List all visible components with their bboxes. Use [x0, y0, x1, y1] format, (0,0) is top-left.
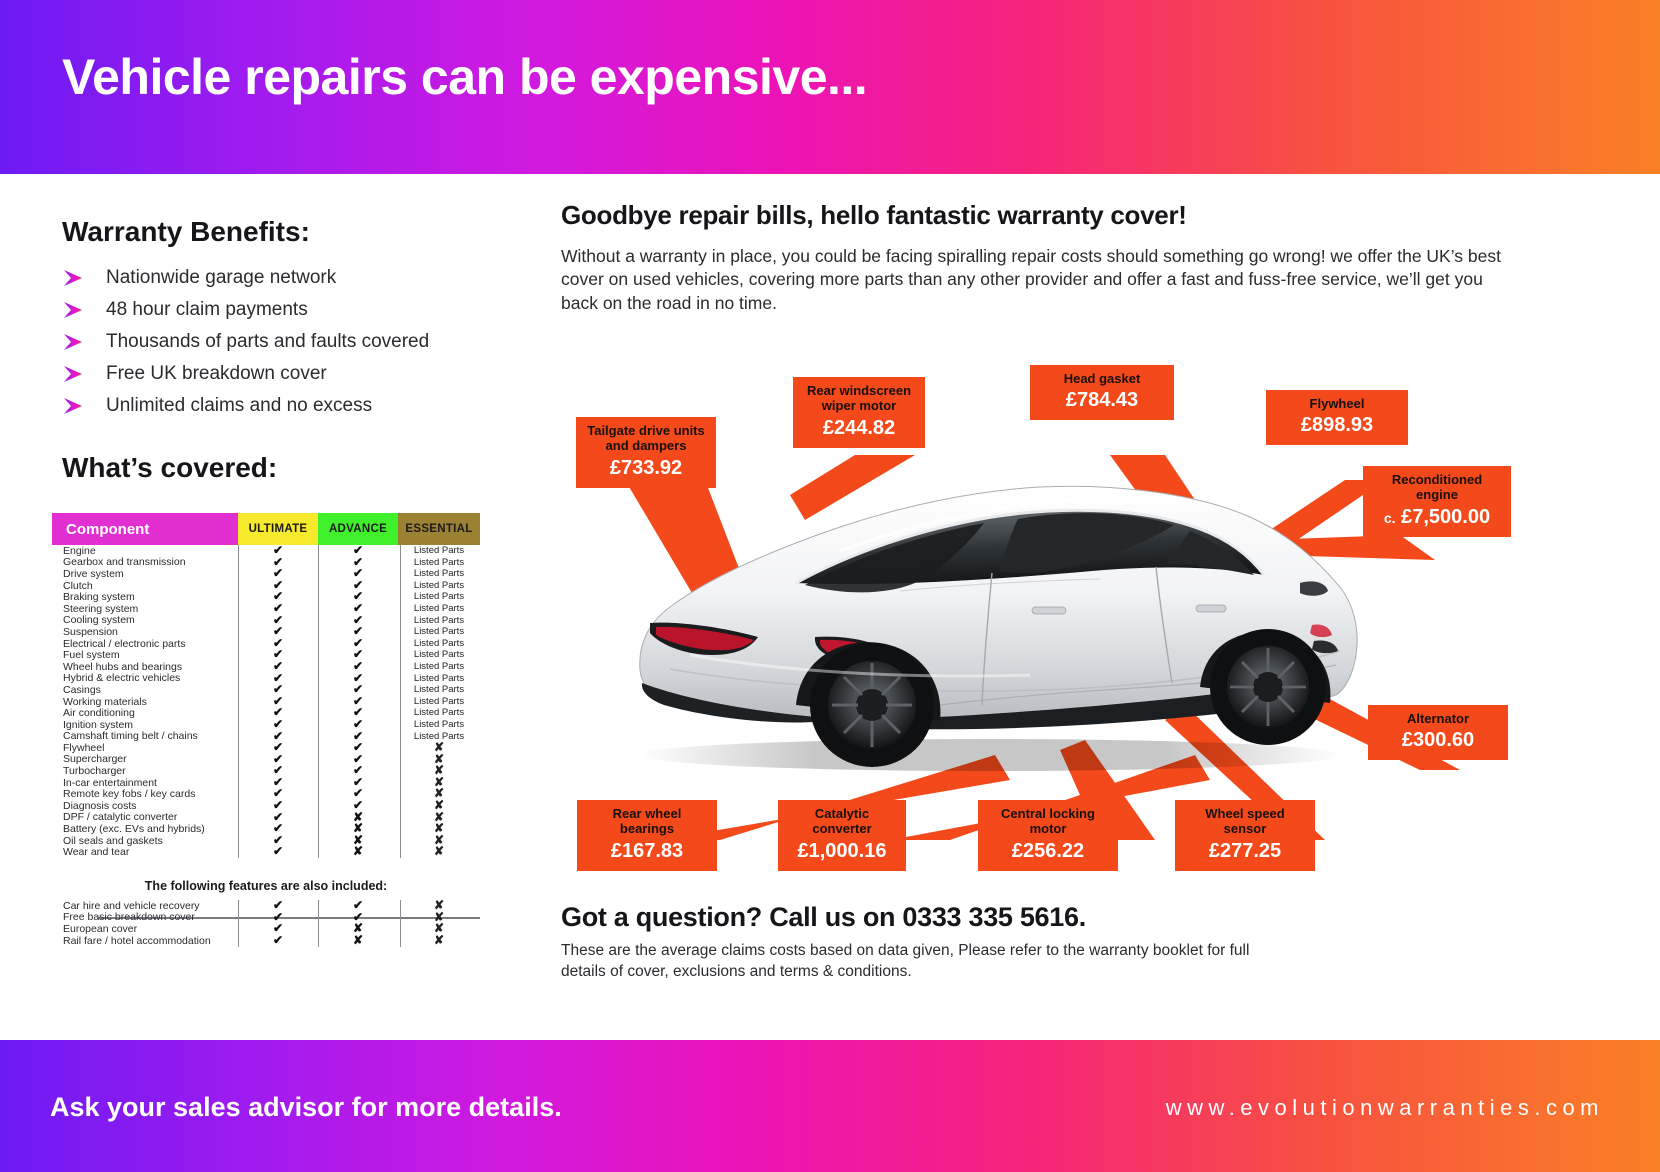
row-component-name: Wear and tear — [52, 846, 238, 858]
benefit-item: Thousands of parts and faults covered — [62, 326, 502, 358]
table-row: Drive system✔✔Listed Parts — [52, 568, 480, 580]
page-footer: Ask your sales advisor for more details.… — [0, 1040, 1660, 1172]
page-header: Vehicle repairs can be expensive... — [0, 0, 1660, 174]
callout-price: £277.25 — [1185, 840, 1305, 863]
benefit-label: Unlimited claims and no excess — [106, 395, 372, 417]
callout-central-locking-motor: Central locking motor £256.22 — [978, 800, 1118, 871]
cell-essential: ✘ — [398, 846, 480, 858]
callout-alternator: Alternator £300.60 — [1368, 705, 1508, 760]
table-row: Engine✔✔Listed Parts — [52, 545, 480, 557]
row-component-name: Clutch — [52, 580, 238, 592]
table-row: Suspension✔✔Listed Parts — [52, 626, 480, 638]
cell-advance: ✘ — [318, 846, 398, 858]
cell-advance: ✘ — [318, 935, 398, 947]
callout-rear-wheel-bearings: Rear wheel bearings £167.83 — [577, 800, 717, 871]
benefit-label: Thousands of parts and faults covered — [106, 331, 429, 353]
table-row: Air conditioning✔✔Listed Parts — [52, 707, 480, 719]
right-heading: Goodbye repair bills, hello fantastic wa… — [561, 200, 1187, 231]
car-illustration — [600, 455, 1380, 800]
callout-label: Flywheel — [1276, 396, 1398, 411]
table-row: Steering system✔✔Listed Parts — [52, 603, 480, 615]
table-row: DPF / catalytic converter✔✘✘ — [52, 812, 480, 824]
cell-ultimate: ✔ — [238, 846, 318, 858]
coverage-table-body: Engine✔✔Listed PartsGearbox and transmis… — [52, 545, 480, 858]
callout-price: £300.60 — [1378, 729, 1498, 752]
table-column-divider — [238, 545, 239, 858]
table-row: In-car entertainment✔✔✘ — [52, 777, 480, 789]
row-component-name: Cooling system — [52, 614, 238, 626]
table-row: Clutch✔✔Listed Parts — [52, 580, 480, 592]
row-component-name: Remote key fobs / key cards — [52, 788, 238, 800]
table-column-divider — [400, 900, 401, 947]
covered-heading: What’s covered: — [62, 452, 277, 484]
row-component-name: Steering system — [52, 603, 238, 615]
arrow-right-icon — [62, 365, 92, 383]
arrow-right-icon — [62, 397, 92, 415]
benefit-item: 48 hour claim payments — [62, 294, 502, 326]
table-row: Car hire and vehicle recovery✔✔✘ — [52, 900, 480, 912]
table-row: Flywheel✔✔✘ — [52, 742, 480, 754]
row-component-name: Oil seals and gaskets — [52, 835, 238, 847]
callout-label: Central locking motor — [988, 806, 1108, 837]
benefit-label: 48 hour claim payments — [106, 299, 308, 321]
table-row: Battery (exc. EVs and hybrids)✔✘✘ — [52, 823, 480, 835]
row-component-name: Supercharger — [52, 753, 238, 765]
callout-label: Wheel speed sensor — [1185, 806, 1305, 837]
row-component-name: Car hire and vehicle recovery — [52, 900, 238, 912]
right-paragraph: Without a warranty in place, you could b… — [561, 245, 1521, 315]
row-component-name: Suspension — [52, 626, 238, 638]
row-component-name: Fuel system — [52, 649, 238, 661]
callout-label: Head gasket — [1040, 371, 1164, 386]
cell-essential: Listed Parts — [398, 557, 480, 569]
row-component-name: Diagnosis costs — [52, 800, 238, 812]
row-component-name: Drive system — [52, 568, 238, 580]
table-row: European cover✔✘✘ — [52, 923, 480, 935]
extras-title: The following features are also included… — [52, 879, 480, 893]
row-component-name: Rail fare / hotel accommodation — [52, 935, 238, 947]
footer-website-url[interactable]: www.evolutionwarranties.com — [1166, 1095, 1604, 1121]
row-component-name: DPF / catalytic converter — [52, 811, 238, 823]
cell-essential: Listed Parts — [398, 696, 480, 708]
coverage-table: Component ULTIMATE ADVANCE ESSENTIAL Eng… — [52, 513, 480, 858]
column-header-ultimate: ULTIMATE — [238, 513, 318, 545]
arrow-right-icon — [62, 269, 92, 287]
benefit-label: Free UK breakdown cover — [106, 363, 327, 385]
row-component-name: In-car entertainment — [52, 777, 238, 789]
table-row: Oil seals and gaskets✔✘✘ — [52, 835, 480, 847]
table-row: Casings✔✔Listed Parts — [52, 684, 480, 696]
row-component-name: Ignition system — [52, 719, 238, 731]
row-component-name: Braking system — [52, 591, 238, 603]
row-component-name: Gearbox and transmission — [52, 556, 238, 568]
row-component-name: Air conditioning — [52, 707, 238, 719]
callout-label: Catalytic converter — [788, 806, 896, 837]
cell-essential: Listed Parts — [398, 638, 480, 650]
table-row: Fuel system✔✔Listed Parts — [52, 649, 480, 661]
infographic-page: Vehicle repairs can be expensive... Warr… — [0, 0, 1660, 1172]
callout-price: £244.82 — [803, 417, 915, 440]
table-column-divider — [400, 545, 401, 858]
callout-wheel-speed-sensor: Wheel speed sensor £277.25 — [1175, 800, 1315, 871]
table-row: Wear and tear✔✘✘ — [52, 846, 480, 858]
cell-ultimate: ✔ — [238, 935, 318, 947]
arrow-right-icon — [62, 301, 92, 319]
cell-essential: Listed Parts — [398, 603, 480, 615]
table-row: Rail fare / hotel accommodation✔✘✘ — [52, 935, 480, 947]
table-row: Diagnosis costs✔✔✘ — [52, 800, 480, 812]
cell-essential: Listed Parts — [398, 684, 480, 696]
column-header-essential: ESSENTIAL — [398, 513, 480, 545]
table-column-divider — [318, 545, 319, 858]
cell-essential: ✘ — [398, 935, 480, 947]
callout-price: £733.92 — [586, 457, 706, 480]
table-row: Braking system✔✔Listed Parts — [52, 591, 480, 603]
table-row: Hybrid & electric vehicles✔✔Listed Parts — [52, 673, 480, 685]
row-component-name: Electrical / electronic parts — [52, 638, 238, 650]
cell-essential: Listed Parts — [398, 673, 480, 685]
callout-head-gasket: Head gasket £784.43 — [1030, 365, 1174, 420]
cell-essential: Listed Parts — [398, 626, 480, 638]
cell-essential: Listed Parts — [398, 707, 480, 719]
row-component-name: Turbocharger — [52, 765, 238, 777]
callout-tailgate-drive-units: Tailgate drive units and dampers £733.92 — [576, 417, 716, 488]
callout-label: Alternator — [1378, 711, 1498, 726]
benefit-item: Unlimited claims and no excess — [62, 390, 502, 422]
page-title: Vehicle repairs can be expensive... — [62, 48, 867, 106]
arrow-right-icon — [62, 333, 92, 351]
call-to-action: Got a question? Call us on 0333 335 5616… — [561, 902, 1086, 933]
table-column-divider — [318, 900, 319, 947]
column-header-advance: ADVANCE — [318, 513, 398, 545]
row-component-name: Battery (exc. EVs and hybrids) — [52, 823, 238, 835]
callout-price: £167.83 — [587, 840, 707, 863]
row-component-name: Flywheel — [52, 742, 238, 754]
extras-table-body: Car hire and vehicle recovery✔✔✘Free bas… — [52, 900, 480, 946]
disclaimer-text: These are the average claims costs based… — [561, 941, 1261, 983]
benefit-label: Nationwide garage network — [106, 267, 336, 289]
cell-essential: Listed Parts — [398, 580, 480, 592]
row-component-name: European cover — [52, 923, 238, 935]
cell-essential: Listed Parts — [398, 545, 480, 557]
benefit-item: Free UK breakdown cover — [62, 358, 502, 390]
callout-label: Tailgate drive units and dampers — [586, 423, 706, 454]
footer-message: Ask your sales advisor for more details. — [50, 1092, 562, 1123]
row-component-name: Free basic breakdown cover — [52, 911, 238, 923]
table-row: Remote key fobs / key cards✔✔✘ — [52, 788, 480, 800]
extras-table: Car hire and vehicle recovery✔✔✘Free bas… — [52, 900, 480, 946]
cell-essential: Listed Parts — [398, 719, 480, 731]
callout-label: Rear wheel bearings — [587, 806, 707, 837]
cell-essential: Listed Parts — [398, 591, 480, 603]
callout-label: Reconditioned engine — [1373, 472, 1501, 503]
cell-essential: Listed Parts — [398, 568, 480, 580]
callout-reconditioned-engine: Reconditioned engine c. £7,500.00 — [1363, 466, 1511, 537]
table-row: Cooling system✔✔Listed Parts — [52, 615, 480, 627]
table-row: Wheel hubs and bearings✔✔Listed Parts — [52, 661, 480, 673]
table-row: Ignition system✔✔Listed Parts — [52, 719, 480, 731]
cell-essential: Listed Parts — [398, 615, 480, 627]
callout-price: c. £7,500.00 — [1373, 506, 1501, 529]
benefit-item: Nationwide garage network — [62, 262, 502, 294]
callout-flywheel: Flywheel £898.93 — [1266, 390, 1408, 445]
callout-label: Rear windscreen wiper motor — [803, 383, 915, 414]
benefits-heading: Warranty Benefits: — [62, 216, 310, 248]
table-row: Camshaft timing belt / chains✔✔Listed Pa… — [52, 731, 480, 743]
table-row: Turbocharger✔✔✘ — [52, 765, 480, 777]
callout-price: £256.22 — [988, 840, 1108, 863]
row-component-name: Casings — [52, 684, 238, 696]
row-component-name: Wheel hubs and bearings — [52, 661, 238, 673]
callout-price: £1,000.16 — [788, 840, 896, 863]
callout-price-value: £7,500.00 — [1401, 506, 1490, 528]
table-row: Gearbox and transmission✔✔Listed Parts — [52, 557, 480, 569]
table-row: Supercharger✔✔✘ — [52, 754, 480, 766]
cell-essential: Listed Parts — [398, 661, 480, 673]
callout-catalytic-converter: Catalytic converter £1,000.16 — [778, 800, 906, 871]
benefits-list: Nationwide garage network48 hour claim p… — [62, 262, 502, 422]
callout-price-prefix: c. — [1384, 510, 1396, 526]
table-row: Working materials✔✔Listed Parts — [52, 696, 480, 708]
column-header-component: Component — [52, 513, 238, 545]
table-column-divider — [238, 900, 239, 947]
coverage-table-header: Component ULTIMATE ADVANCE ESSENTIAL — [52, 513, 480, 545]
row-component-name: Engine — [52, 545, 238, 557]
callout-rear-windscreen-wiper-motor: Rear windscreen wiper motor £244.82 — [793, 377, 925, 448]
cell-essential: Listed Parts — [398, 649, 480, 661]
row-component-name: Camshaft timing belt / chains — [52, 730, 238, 742]
callout-price: £784.43 — [1040, 389, 1164, 412]
row-component-name: Working materials — [52, 696, 238, 708]
table-row: Electrical / electronic parts✔✔Listed Pa… — [52, 638, 480, 650]
row-component-name: Hybrid & electric vehicles — [52, 672, 238, 684]
table-row: Free basic breakdown cover✔✔✘ — [52, 912, 480, 924]
callout-price: £898.93 — [1276, 414, 1398, 437]
